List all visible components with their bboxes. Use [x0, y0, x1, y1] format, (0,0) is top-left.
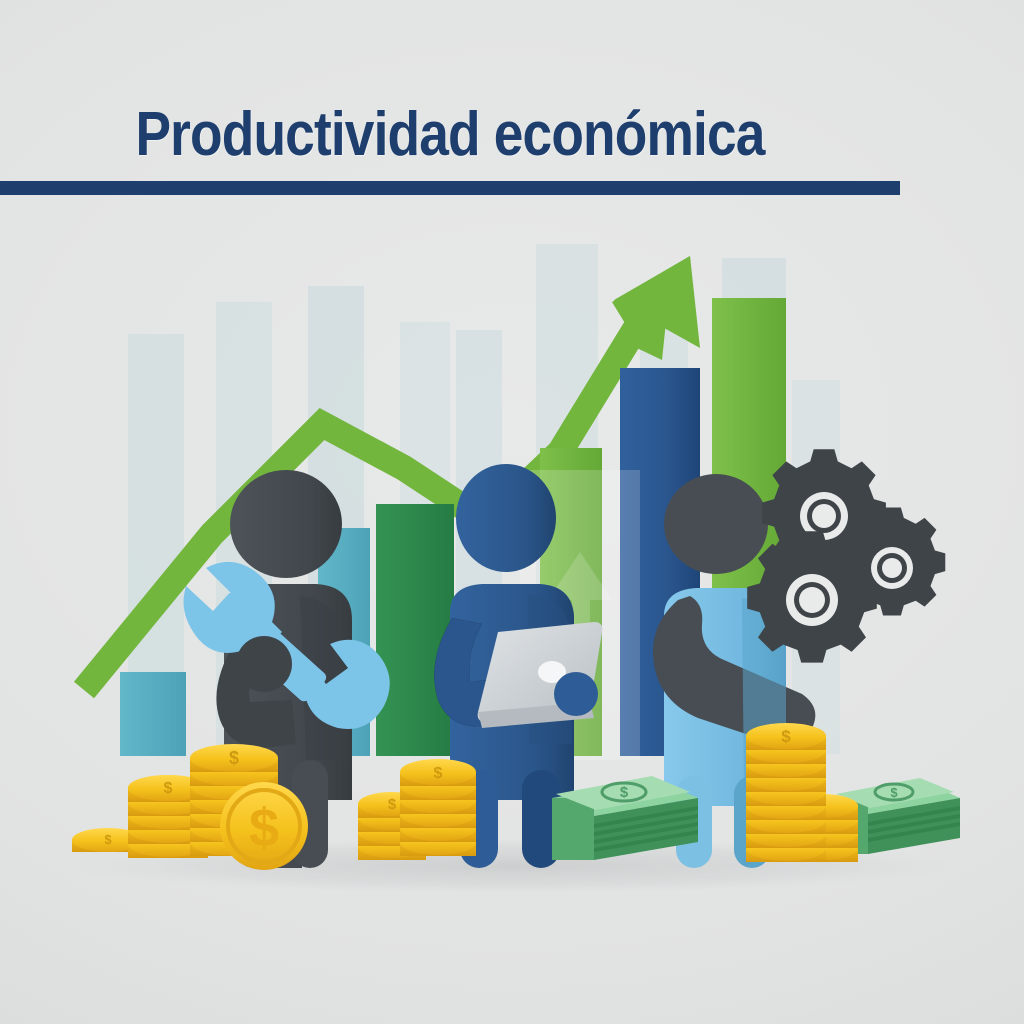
bar-teal-left [120, 672, 186, 756]
coin-big-face-left: $ [220, 782, 308, 870]
coin-dollar-symbol: $ [164, 780, 173, 797]
coin-dollar-symbol-large: $ [249, 798, 279, 858]
engineer-head [664, 474, 768, 574]
gear-lower-left [747, 531, 877, 662]
title-underline-rule [0, 181, 900, 195]
bill-dollar-symbol: $ [620, 784, 629, 801]
coin-dollar-symbol: $ [229, 748, 239, 768]
coin-stack-right-tall: $ [746, 723, 826, 862]
bar-green-dark [376, 504, 454, 756]
coin-dollar-symbol: $ [104, 832, 112, 847]
page-title: Productividad económica [63, 92, 837, 178]
infographic-canvas: $ $ [0, 0, 1024, 1024]
coin-stack-center-2: $ [400, 759, 476, 856]
coin-dollar-symbol: $ [434, 765, 443, 782]
bill-dollar-symbol-2: $ [890, 785, 898, 800]
coin-dollar-symbol: $ [781, 727, 791, 746]
gear-group [747, 449, 945, 662]
analyst-head [456, 464, 556, 572]
worker-head [230, 470, 342, 578]
title-block: Productividad económica [0, 92, 1024, 202]
coin-dollar-symbol: $ [388, 796, 397, 813]
